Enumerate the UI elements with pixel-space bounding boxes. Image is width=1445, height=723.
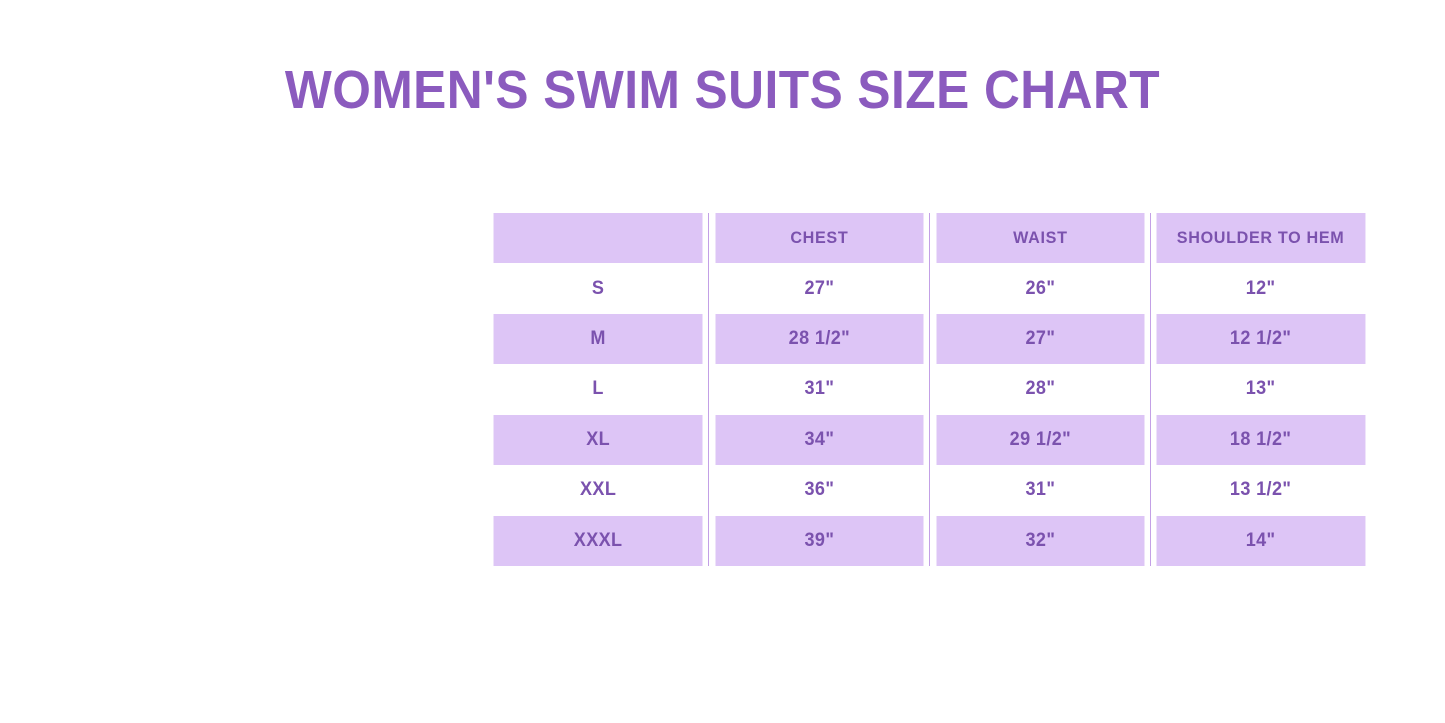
table-header-row: CHEST WAIST SHOULDER TO HEM [488, 213, 1371, 263]
size-chart-container: CHEST WAIST SHOULDER TO HEM S 27" 26" 12… [488, 213, 1371, 566]
cell-waist: 32" [935, 516, 1145, 567]
cell-shoulder-to-hem: 12" [1156, 263, 1366, 313]
table-body: S 27" 26" 12" M 28 1/2" 27" 12 1/2" L 31… [488, 263, 1371, 566]
cell-chest: 28 1/2" [714, 314, 924, 364]
cell-chest: 36" [714, 465, 924, 515]
table-row: L 31" 28" 13" [488, 364, 1371, 414]
cell-waist: 31" [935, 465, 1145, 515]
table-row: S 27" 26" 12" [488, 263, 1371, 313]
page-title: WOMEN'S SWIM SUITS SIZE CHART [58, 58, 1387, 122]
cell-size: XXL [494, 465, 704, 515]
cell-shoulder-to-hem: 13 1/2" [1156, 465, 1366, 515]
cell-shoulder-to-hem: 14" [1156, 516, 1366, 567]
cell-chest: 27" [714, 263, 924, 313]
cell-waist: 27" [935, 314, 1145, 364]
cell-size: XL [494, 415, 704, 465]
table-header: CHEST WAIST SHOULDER TO HEM [488, 213, 1371, 263]
cell-waist: 28" [935, 364, 1145, 414]
cell-waist: 29 1/2" [935, 415, 1145, 465]
cell-shoulder-to-hem: 18 1/2" [1156, 415, 1366, 465]
cell-chest: 34" [714, 415, 924, 465]
column-header-shoulder-to-hem: SHOULDER TO HEM [1156, 213, 1366, 263]
column-header-size [494, 213, 704, 263]
table-row: M 28 1/2" 27" 12 1/2" [488, 314, 1371, 364]
cell-size: M [494, 314, 704, 364]
cell-shoulder-to-hem: 13" [1156, 364, 1366, 414]
column-header-waist: WAIST [935, 213, 1145, 263]
cell-shoulder-to-hem: 12 1/2" [1156, 314, 1366, 364]
table-row: XL 34" 29 1/2" 18 1/2" [488, 415, 1371, 465]
cell-chest: 39" [714, 516, 924, 567]
size-chart-table: CHEST WAIST SHOULDER TO HEM S 27" 26" 12… [488, 213, 1371, 566]
cell-size: XXXL [494, 516, 704, 567]
cell-chest: 31" [714, 364, 924, 414]
cell-size: S [494, 263, 704, 313]
cell-size: L [494, 364, 704, 414]
table-row: XXXL 39" 32" 14" [488, 516, 1371, 567]
table-row: XXL 36" 31" 13 1/2" [488, 465, 1371, 515]
cell-waist: 26" [935, 263, 1145, 313]
column-header-chest: CHEST [714, 213, 924, 263]
